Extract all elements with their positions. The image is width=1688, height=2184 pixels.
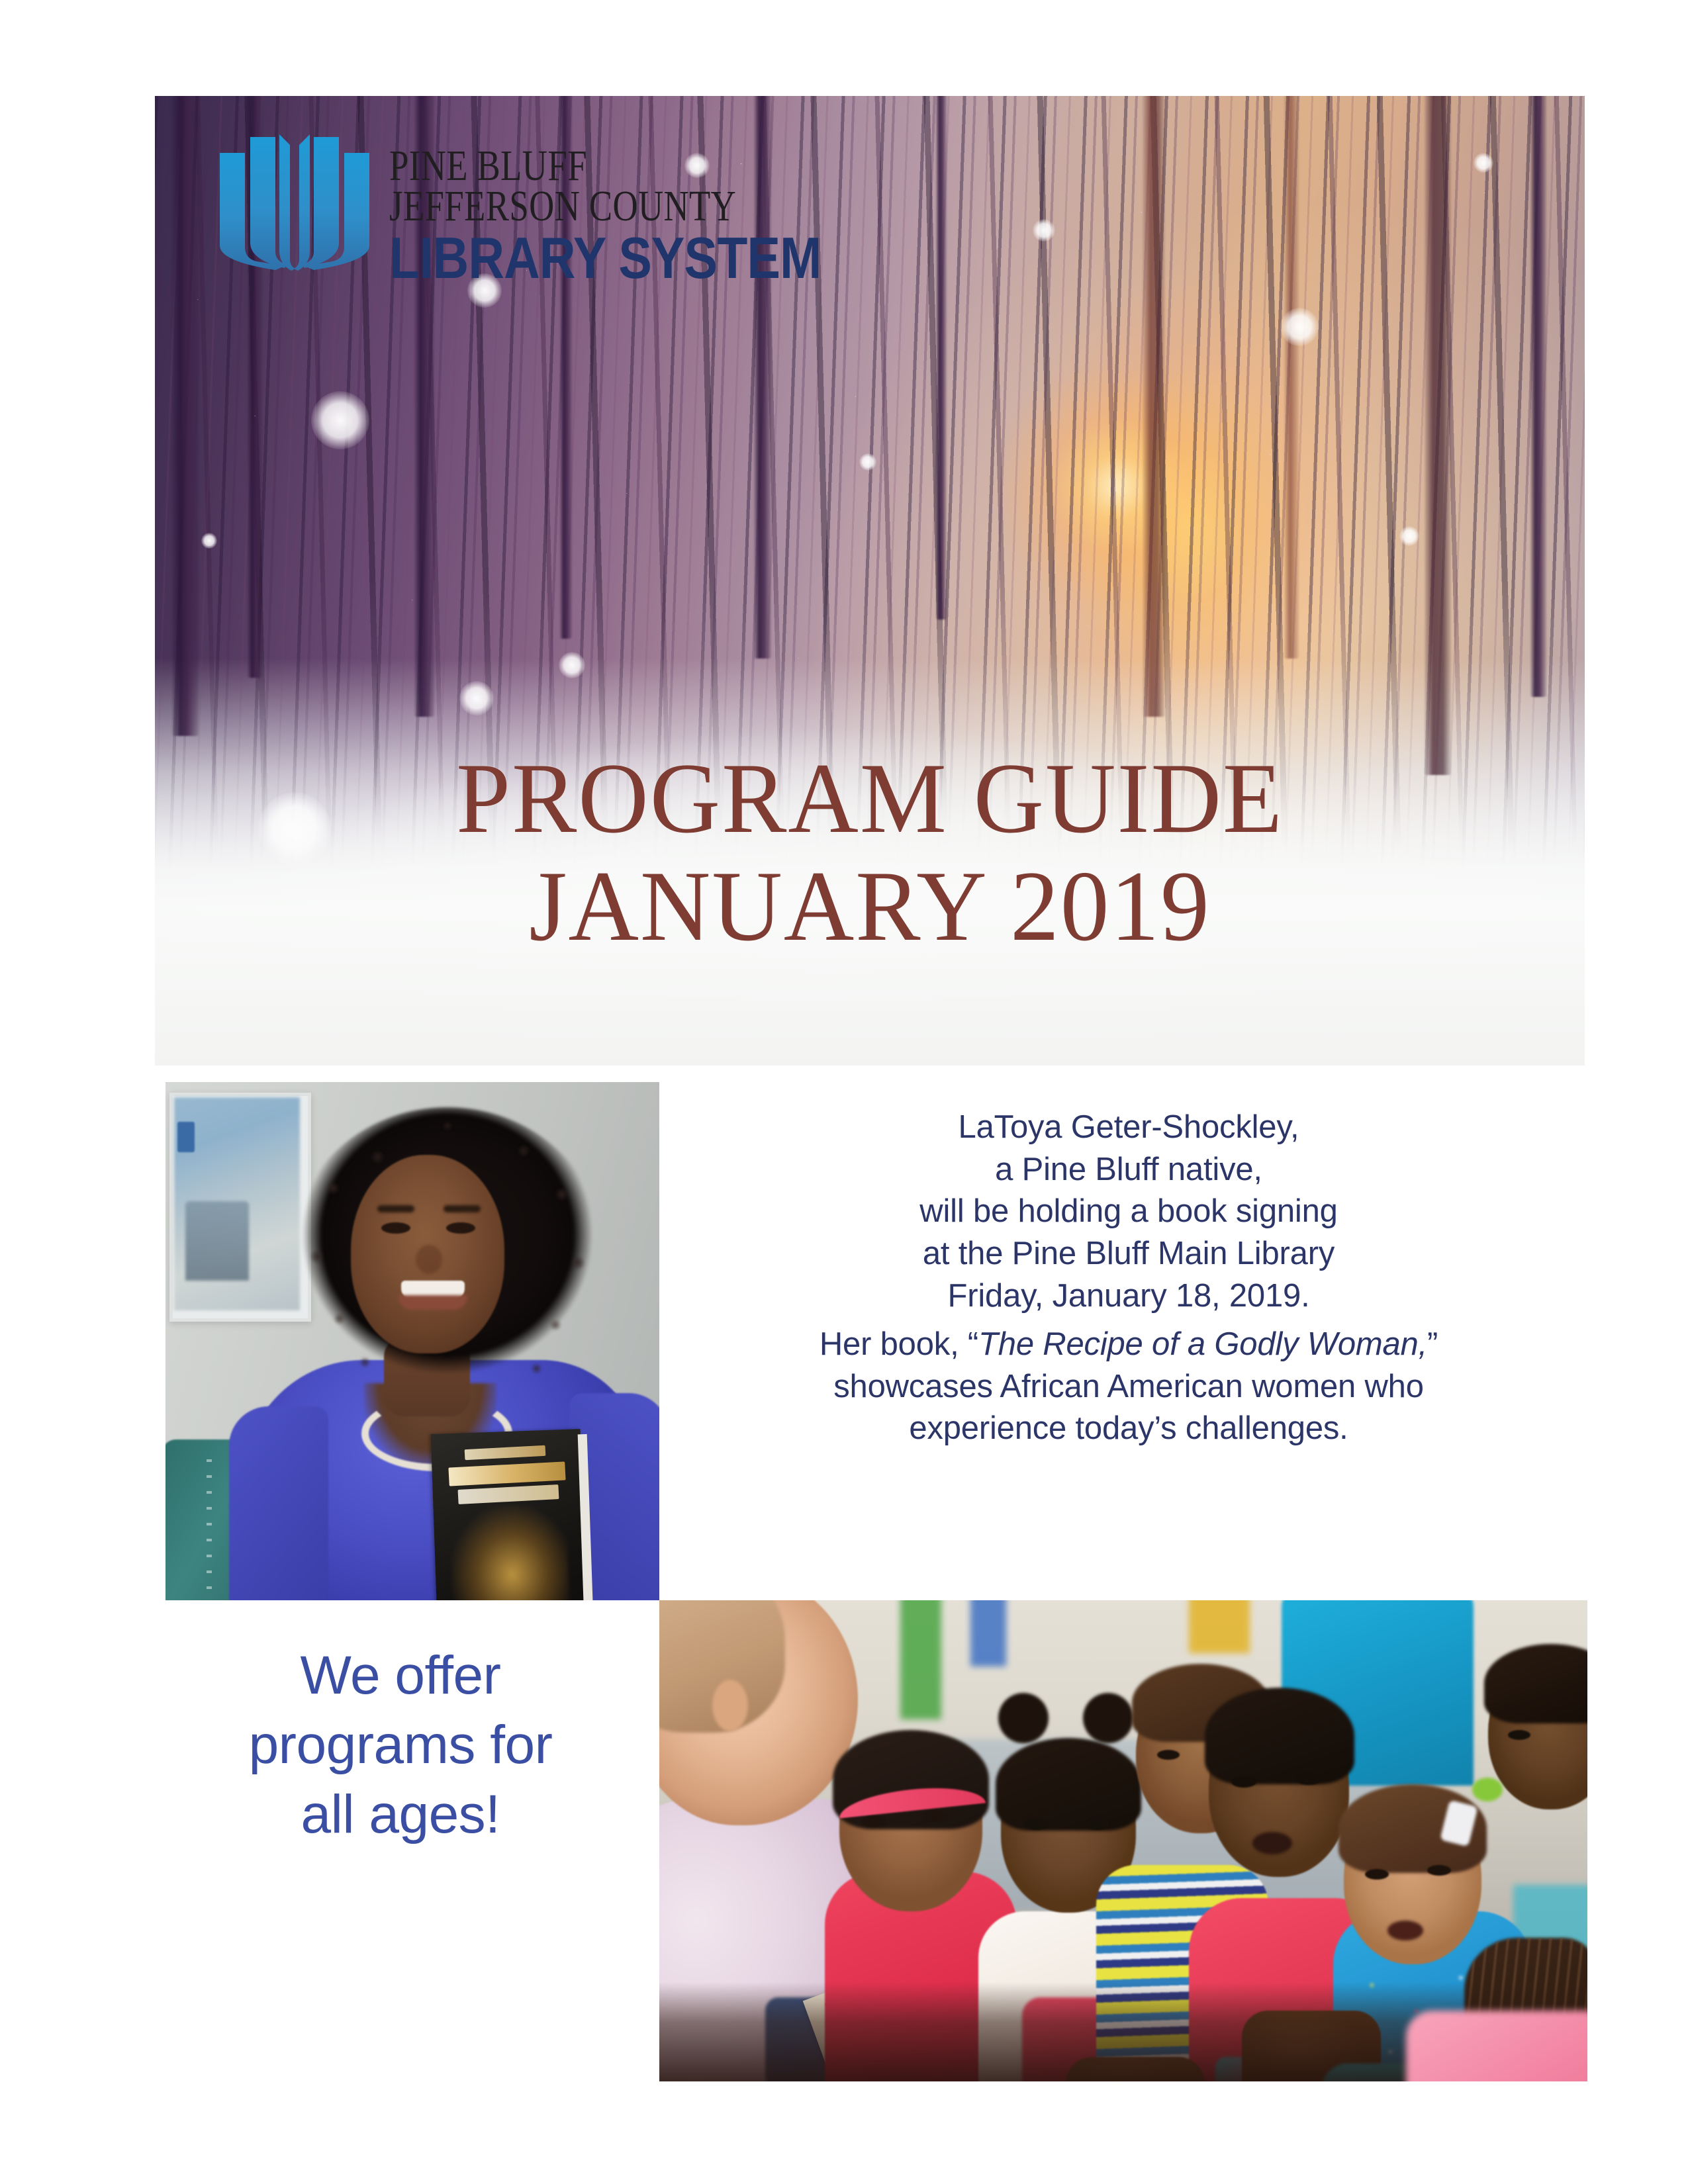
chair-studs (207, 1459, 212, 1598)
blurb-line-3: experience today’s challenges. (688, 1408, 1569, 1450)
blurb-line-1: Her book, “The Recipe of a Godly Woman,” (688, 1324, 1569, 1366)
tagline-line-3: all ages! (169, 1780, 632, 1850)
artwork-detail (185, 1201, 249, 1281)
library-logo: PINE BLUFF JEFFERSON COUNTY LIBRARY SYST… (218, 129, 892, 287)
green-hair-tie (1472, 1778, 1503, 1801)
snow-bokeh (1033, 219, 1055, 242)
child-blue-open-mouth (1387, 1921, 1423, 1940)
logo-line-pine-bluff: PINE BLUFF (389, 146, 791, 187)
tagline-line-2: programs for (169, 1711, 632, 1780)
child-far-right-eye (1508, 1730, 1530, 1740)
logo-line-jefferson-county: JEFFERSON COUNTY (389, 187, 791, 227)
intro-line-2: a Pine Bluff native, (702, 1149, 1556, 1191)
child-blue-right-eye (1427, 1865, 1451, 1876)
hair-puff-right (1083, 1693, 1133, 1743)
programs-tagline: We offer programs for all ages! (169, 1641, 632, 1850)
blue-chair-bg (970, 1600, 1006, 1666)
hero-image: PINE BLUFF JEFFERSON COUNTY LIBRARY SYST… (155, 96, 1585, 1066)
child-pink-left-eye (862, 1816, 886, 1827)
yellow-chair-bg (1189, 1600, 1250, 1653)
child-coral-hair (1205, 1688, 1354, 1784)
left-eyebrow (377, 1205, 414, 1212)
green-chair-bg (900, 1600, 941, 1719)
book-cover-glow (449, 1504, 570, 1600)
right-eyebrow (444, 1205, 481, 1212)
page-title-line2: JANUARY 2019 (176, 852, 1563, 960)
snow-bokeh (201, 533, 217, 549)
book-blurb-text: Her book, “The Recipe of a Godly Woman,”… (688, 1324, 1569, 1450)
hair-puff-left (998, 1693, 1049, 1743)
intro-line-1: LaToya Geter-Shockley, (702, 1107, 1556, 1149)
blurb-prefix: Her book, “ (820, 1326, 978, 1362)
open-book-logo-icon (218, 129, 371, 278)
author-intro-text: LaToya Geter-Shockley, a Pine Bluff nati… (702, 1107, 1556, 1317)
child-blue-left-eye (1365, 1869, 1389, 1880)
child-white-right-eye (1086, 1819, 1109, 1830)
child-coral-open-mouth (1252, 1832, 1292, 1854)
lower-lip (399, 1295, 467, 1310)
child-white-shirt-hair (996, 1738, 1141, 1831)
snow-bokeh (1474, 153, 1493, 173)
blurb-suffix: ” (1427, 1326, 1438, 1362)
snow-bokeh (859, 453, 876, 471)
pink-foreground-fabric (1406, 2011, 1587, 2081)
intro-line-4: at the Pine Bluff Main Library (702, 1233, 1556, 1275)
left-eye (381, 1222, 410, 1234)
librarian-ear (712, 1680, 748, 1731)
children-story-time-photo (659, 1600, 1587, 2081)
child-white-left-eye (1025, 1819, 1049, 1830)
book-title-italic: The Recipe of a Godly Woman, (978, 1326, 1427, 1362)
right-eye (446, 1222, 475, 1234)
blurb-line-2: showcases African American women who (688, 1366, 1569, 1408)
child-pink-right-eye (923, 1811, 947, 1821)
tagline-line-1: We offer (169, 1641, 632, 1711)
nose (416, 1245, 442, 1274)
snow-bokeh (311, 391, 369, 449)
snow-bokeh (1280, 308, 1319, 346)
child-striped-left-eye (1157, 1750, 1180, 1760)
child-coral-left-eye (1231, 1776, 1256, 1788)
intro-line-5: Friday, January 18, 2019. (702, 1275, 1556, 1318)
snow-bokeh (1399, 526, 1419, 546)
page-title-line1: PROGRAM GUIDE (176, 745, 1563, 852)
intro-line-3: will be holding a book signing (702, 1191, 1556, 1233)
author-photo (165, 1082, 659, 1600)
blouse-left-sleeve (229, 1406, 328, 1600)
child-coral-right-eye (1296, 1774, 1321, 1785)
page-title: PROGRAM GUIDE JANUARY 2019 (155, 745, 1585, 960)
artwork-accent (177, 1122, 195, 1152)
logo-line-library-system: LIBRARY SYSTEM (389, 229, 821, 287)
